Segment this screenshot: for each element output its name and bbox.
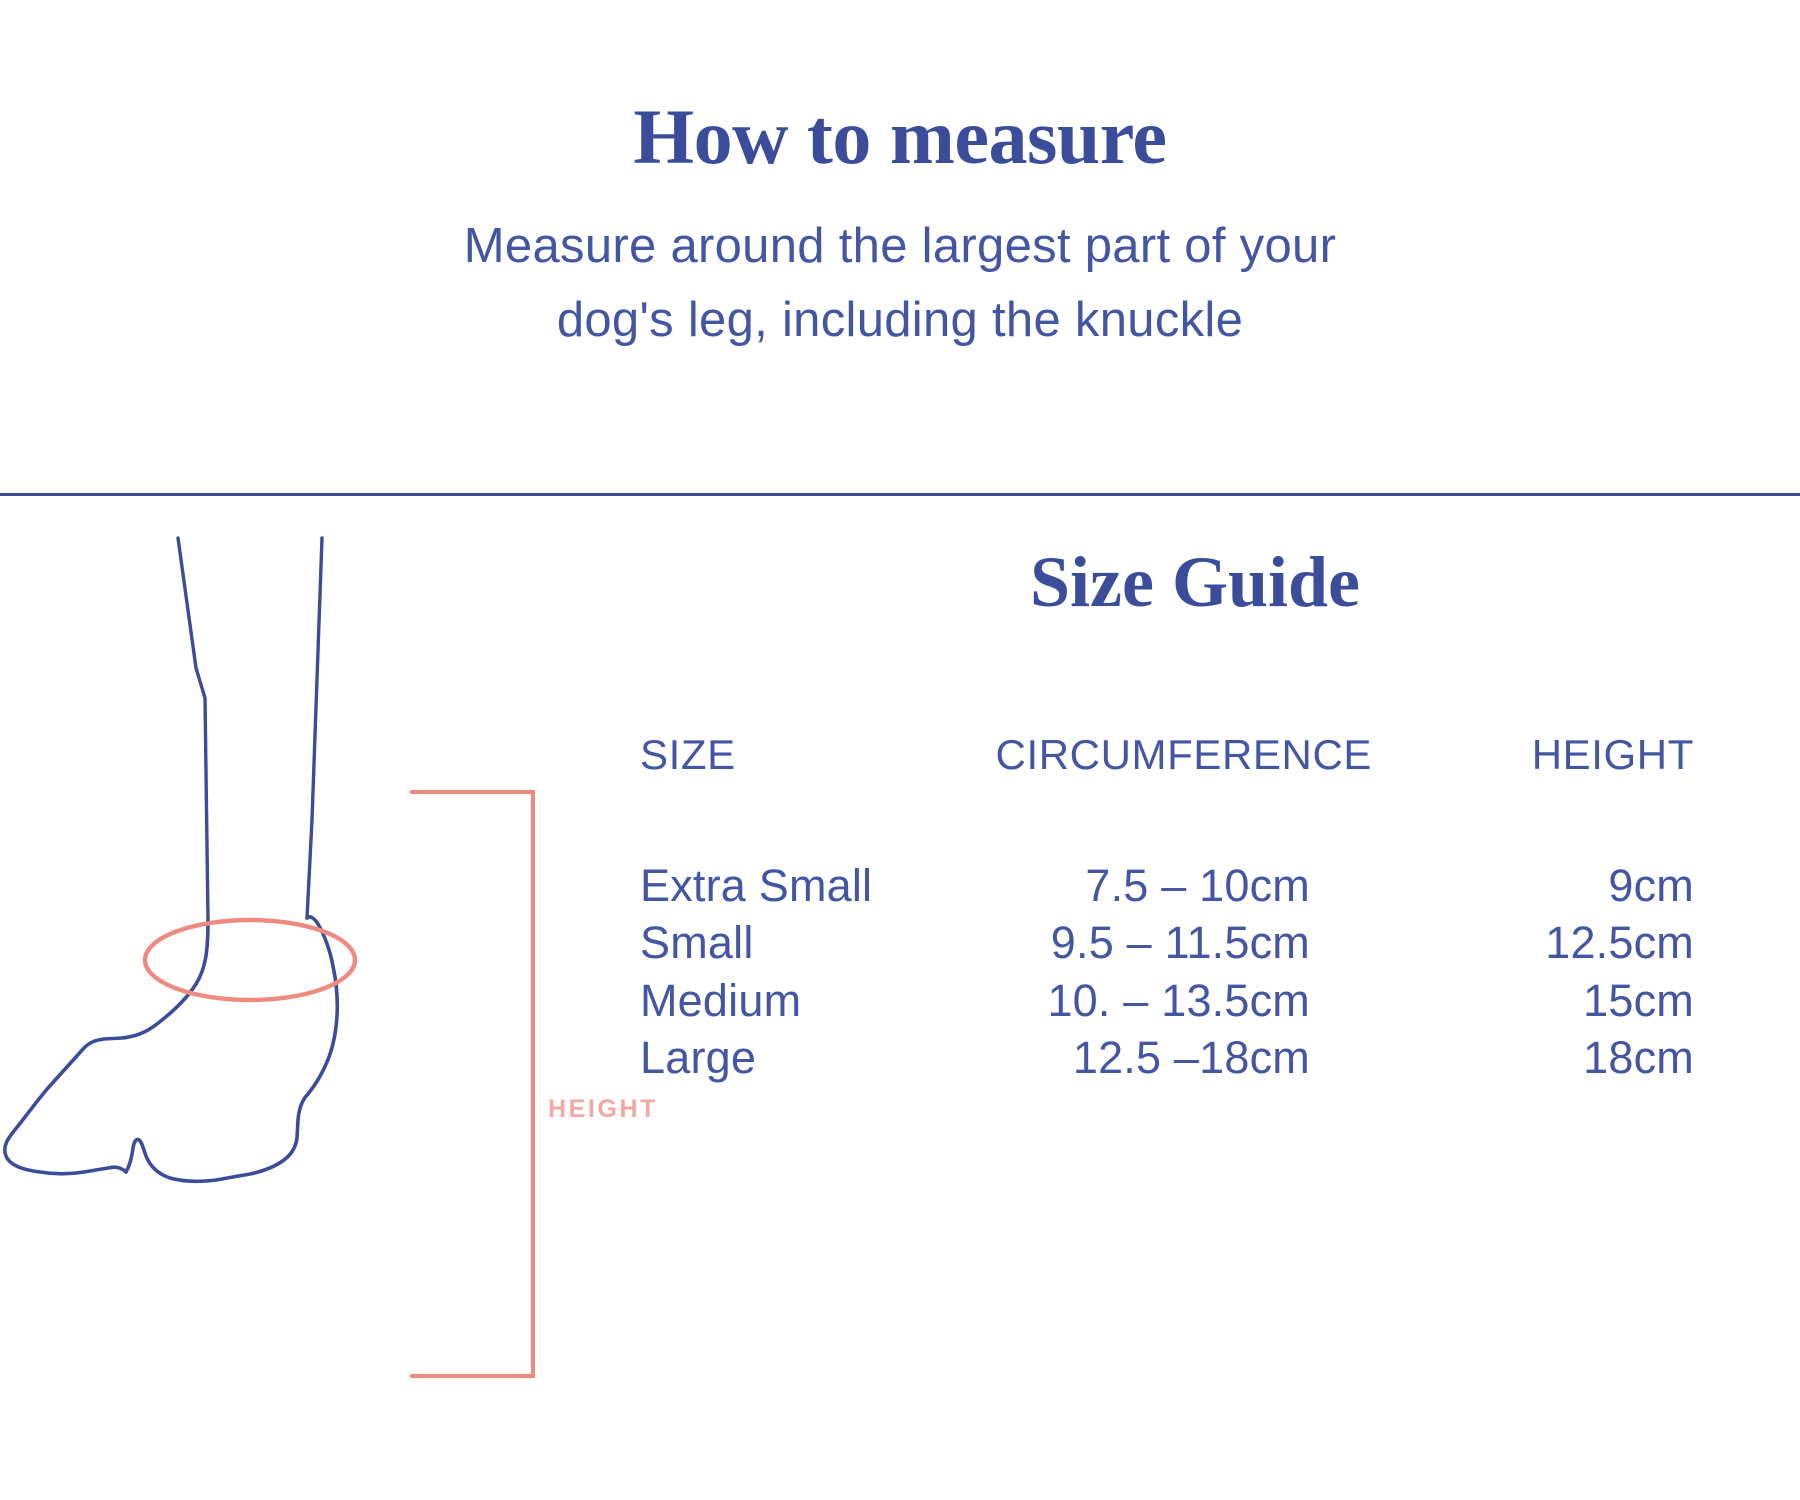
cell-circumference: 12.5 –18cm [970, 1029, 1430, 1087]
cell-size: Extra Small [640, 857, 970, 915]
table-row: Extra Small 7.5 – 10cm 9cm [640, 857, 1750, 915]
dog-leg-illustration [0, 520, 700, 1420]
cell-size: Large [640, 1029, 970, 1087]
cell-circumference: 7.5 – 10cm [970, 857, 1430, 915]
header-divider [0, 493, 1800, 496]
cell-size: Medium [640, 972, 970, 1030]
cell-height: 12.5cm [1430, 914, 1750, 972]
column-header-circumference: CIRCUMFERENCE [970, 731, 1430, 857]
table-header-row: SIZE CIRCUMFERENCE HEIGHT [640, 731, 1750, 857]
size-table: SIZE CIRCUMFERENCE HEIGHT Extra Small 7.… [640, 731, 1750, 1087]
table-row: Small 9.5 – 11.5cm 12.5cm [640, 914, 1750, 972]
cell-circumference: 10. – 13.5cm [970, 972, 1430, 1030]
header-section: How to measure Measure around the larges… [0, 0, 1800, 494]
circumference-ring-icon [145, 920, 355, 1000]
page-title: How to measure [0, 96, 1800, 178]
page-subtitle: Measure around the largest part of your … [0, 210, 1800, 357]
height-bracket-label: HEIGHT [548, 1095, 658, 1124]
leg-outline-icon [178, 538, 322, 920]
height-bracket-icon [412, 792, 533, 1376]
table-row: Large 12.5 –18cm 18cm [640, 1029, 1750, 1087]
cell-circumference: 9.5 – 11.5cm [970, 914, 1430, 972]
size-guide-title: Size Guide [640, 545, 1750, 621]
cell-height: 9cm [1430, 857, 1750, 915]
cell-size: Small [640, 914, 970, 972]
subtitle-line-1: Measure around the largest part of your [0, 210, 1800, 284]
cell-height: 18cm [1430, 1029, 1750, 1087]
size-guide-section: Size Guide SIZE CIRCUMFERENCE HEIGHT Ext… [640, 545, 1800, 1087]
paw-outline-icon [5, 917, 338, 1181]
table-row: Medium 10. – 13.5cm 15cm [640, 972, 1750, 1030]
cell-height: 15cm [1430, 972, 1750, 1030]
column-header-size: SIZE [640, 731, 970, 857]
column-header-height: HEIGHT [1430, 731, 1750, 857]
subtitle-line-2: dog's leg, including the knuckle [0, 284, 1800, 358]
